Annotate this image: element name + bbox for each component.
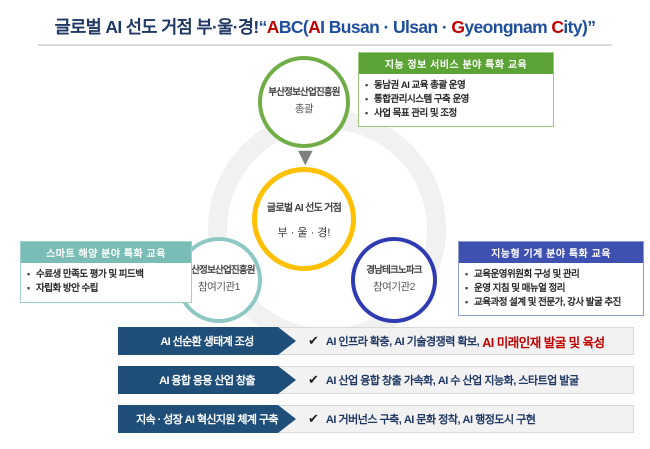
node-global-ai-hub[interactable]: 글로벌 AI 선도 거점 부 · 울 · 경! [252, 167, 356, 271]
node-busan-agency[interactable]: 부산정보산업진흥원 총괄 [258, 56, 350, 148]
callout-blue-header: 지능형 기계 분야 특화 교육 [459, 242, 643, 263]
list-item: • 사업 목표 관리 및 조정 [365, 107, 547, 121]
callout-green-header: 지능 정보 서비스 분야 특화 교육 [359, 53, 553, 74]
list-item-label: 교육운영위원회 구성 및 관리 [474, 268, 579, 282]
bullet-icon: • [365, 93, 374, 106]
callout-intelligent-info-service: 지능 정보 서비스 분야 특화 교육 • 동남권 AI 교육 총괄 운영 • 통… [358, 52, 554, 127]
title-quote-open: “ [259, 17, 267, 37]
banner-main-text: AI 인프라 확충, AI 기술경쟁력 확보, [326, 333, 479, 349]
org-diagram: 부산정보산업진흥원 총괄 ▼ 글로벌 AI 선도 거점 부 · 울 · 경! ➤… [0, 48, 650, 320]
check-icon: ✔ [308, 373, 319, 388]
check-icon: ✔ [308, 334, 319, 349]
callout-green-body: • 동남권 AI 교육 총괄 운영 • 통합관리시스템 구축 운영 • 사업 목… [359, 74, 553, 126]
bullet-icon: • [465, 296, 474, 309]
list-item-label: 수료생 만족도 평가 및 피드백 [36, 268, 143, 282]
list-item: • 동남권 AI 교육 총괄 운영 [365, 79, 547, 93]
list-item-label: 사업 목표 관리 및 조정 [374, 107, 457, 121]
banner-row[interactable]: AI 융합 응용 산업 창출 ✔ AI 산업 융합 창출 가속화, AI 수 산… [118, 366, 634, 394]
node-gyeongnam-technopark[interactable]: 경남테크노파크 참여기관2 [351, 237, 437, 323]
check-icon: ✔ [308, 412, 319, 427]
banner-content: ✔ AI 산업 융합 창출 가속화, AI 수 산업 지능화, 스타트업 발굴 [308, 366, 582, 394]
list-item-label: 자립화 방안 수립 [36, 282, 98, 296]
title-gyeongnam-g: G [451, 17, 464, 37]
node-gyeongnam-role: 참여기관2 [373, 282, 415, 294]
list-item-label: 동남권 AI 교육 총괄 운영 [374, 79, 465, 93]
arrow-down-icon: ▼ [298, 148, 313, 167]
node-ulsan-org: 울산정보산업진흥원 [183, 266, 254, 276]
list-item: • 수료생 만족도 평가 및 피드백 [27, 268, 185, 282]
bullet-icon: • [27, 268, 36, 281]
banner-tag-label: 지속 · 성장 AI 혁신지원 체계 구축 [118, 405, 296, 433]
title-gyeongnam-rest: yeongnam [464, 17, 551, 37]
node-busan-org: 부산정보산업진흥원 [268, 88, 339, 98]
list-item: • 통합관리시스템 구축 운영 [365, 93, 547, 107]
list-item-label: 운영 지침 및 매뉴얼 정리 [474, 282, 565, 296]
banner-main-text: AI 거버넌스 구축, AI 문화 정착, AI 행정도시 구현 [326, 411, 535, 427]
list-item: • 교육과정 설계 및 전문가, 강사 발굴 추진 [465, 296, 637, 310]
banner-row[interactable]: 지속 · 성장 AI 혁신지원 체계 구축 ✔ AI 거버넌스 구축, AI 문… [118, 405, 634, 433]
list-item: • 자립화 방안 수립 [27, 282, 185, 296]
bullet-icon: • [465, 282, 474, 295]
title-quote-close: ” [587, 17, 595, 37]
callout-teal-body: • 수료생 만족도 평가 및 피드백 • 자립화 방안 수립 [21, 263, 191, 302]
node-busan-role: 총괄 [295, 104, 313, 116]
banner-main-text: AI 산업 융합 창출 가속화, AI 수 산업 지능화, 스타트업 발굴 [326, 372, 579, 388]
list-item: • 교육운영위원회 구성 및 관리 [465, 268, 637, 282]
list-item-label: 교육과정 설계 및 전문가, 강사 발굴 추진 [474, 296, 621, 310]
bullet-icon: • [365, 79, 374, 92]
title-city-rest: ity) [563, 17, 587, 37]
callout-smart-marine: 스마트 해양 분야 특화 교육 • 수료생 만족도 평가 및 피드백 • 자립화… [20, 241, 192, 303]
bullet-icon: • [27, 282, 36, 295]
page-title: 글로벌 AI 선도 거점 부·울·경!“ABC(AI Busan · Ulsan… [0, 14, 650, 39]
title-city-c: C [551, 17, 563, 37]
title-divider [38, 44, 612, 46]
title-ai-a: A [308, 17, 320, 37]
node-ulsan-role: 참여기관1 [198, 282, 240, 294]
list-item: • 운영 지침 및 매뉴얼 정리 [465, 282, 637, 296]
title-abc-bc: BC( [279, 17, 308, 37]
callout-intelligent-machinery: 지능형 기계 분야 특화 교육 • 교육운영위원회 구성 및 관리 • 운영 지… [458, 241, 644, 316]
callout-teal-header: 스마트 해양 분야 특화 교육 [21, 242, 191, 263]
banner-highlight-text: AI 미래인재 발굴 및 육성 [482, 332, 604, 351]
banner-tag-label: AI 융합 응용 산업 창출 [118, 366, 296, 394]
bullet-icon: • [465, 268, 474, 281]
bullet-icon: • [365, 107, 374, 120]
strategy-banner-list: AI 선순환 생태계 조성 ✔ AI 인프라 확충, AI 기술경쟁력 확보, … [0, 327, 650, 444]
title-abc-a: A [267, 17, 279, 37]
banner-content: ✔ AI 거버넌스 구축, AI 문화 정착, AI 행정도시 구현 [308, 405, 538, 433]
title-korean: 글로벌 AI 선도 거점 부·울·경! [55, 17, 259, 37]
node-center-sub: 부 · 울 · 경! [278, 224, 331, 240]
title-busan-rest: Busan · Ulsan · [329, 17, 452, 37]
node-center-main: 글로벌 AI 선도 거점 [267, 199, 341, 214]
banner-row[interactable]: AI 선순환 생태계 조성 ✔ AI 인프라 확충, AI 기술경쟁력 확보, … [118, 327, 634, 355]
callout-blue-body: • 교육운영위원회 구성 및 관리 • 운영 지침 및 매뉴얼 정리 • 교육과… [459, 263, 643, 315]
list-item-label: 통합관리시스템 구축 운영 [374, 93, 469, 107]
banner-content: ✔ AI 인프라 확충, AI 기술경쟁력 확보, AI 미래인재 발굴 및 육… [308, 327, 605, 355]
banner-tag-label: AI 선순환 생태계 조성 [118, 327, 296, 355]
node-gyeongnam-org: 경남테크노파크 [366, 266, 422, 276]
